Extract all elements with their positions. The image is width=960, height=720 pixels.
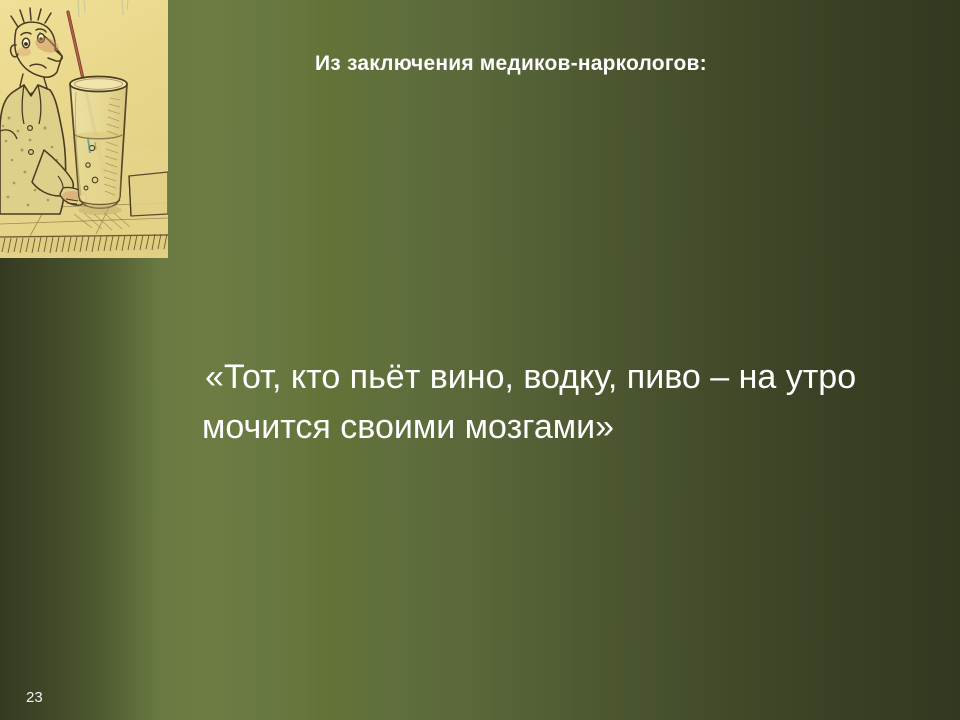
cartoon-illustration-svg: [0, 0, 168, 258]
slide-number: 23: [26, 689, 43, 706]
slide-title: Из заключения медиков-наркологов:: [315, 52, 707, 76]
slide-root: Из заключения медиков-наркологов: «Тот, …: [0, 0, 960, 720]
cartoon-illustration: [0, 0, 168, 258]
quote-line-1: «Тот, кто пьёт вино, водку, пиво – на ут…: [205, 352, 942, 402]
quote-line-2: мочится своими мозгами»: [202, 402, 942, 452]
quote-text: «Тот, кто пьёт вино, водку, пиво – на ут…: [202, 352, 942, 452]
